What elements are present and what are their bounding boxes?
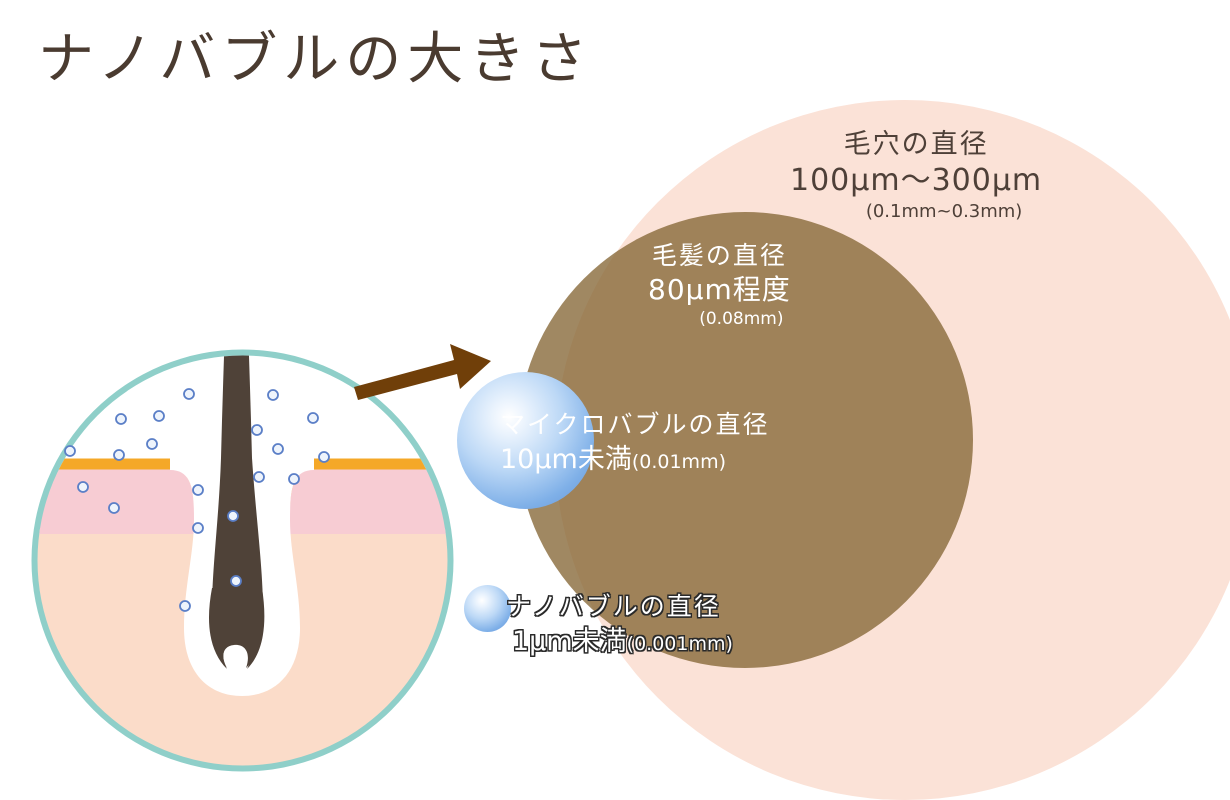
microbubble-label-name: マイクロバブルの直径 — [500, 408, 770, 442]
pore-label-value-mm: (0.1mm~0.3mm) — [790, 200, 1042, 224]
hair-diameter-label: 毛髪の直径 80μm程度 (0.08mm) — [648, 240, 791, 330]
nanobubble-label-value: 1μm未満 — [512, 626, 627, 657]
nanobubble-label-value-line: 1μm未満(0.001mm) — [506, 624, 733, 662]
microbubble-label-value: 10μm未満 — [500, 444, 632, 475]
nanobubble-diameter-label: ナノバブルの直径 1μm未満(0.001mm) — [506, 590, 733, 662]
microbubble-label-value-mm: (0.01mm) — [632, 451, 726, 473]
nanobubble-sphere — [464, 585, 511, 632]
infographic-canvas: ナノバブルの大きさ 毛穴の直径 100μm〜300μm (0.1mm~0.3mm… — [0, 0, 1230, 800]
arrow-shape — [354, 344, 491, 400]
hair-label-name: 毛髪の直径 — [648, 240, 791, 272]
hair-label-value-mm: (0.08mm) — [648, 308, 791, 330]
hair-label-value: 80μm程度 — [648, 272, 791, 308]
pore-label-name: 毛穴の直径 — [790, 128, 1042, 162]
pointer-arrow — [350, 330, 510, 410]
microbubble-diameter-label: マイクロバブルの直径 10μm未満(0.01mm) — [500, 408, 770, 480]
pore-label-value: 100μm〜300μm — [790, 162, 1042, 200]
pore-diameter-label: 毛穴の直径 100μm〜300μm (0.1mm~0.3mm) — [790, 128, 1042, 224]
nanobubble-label-value-mm: (0.001mm) — [627, 633, 733, 655]
microbubble-label-value-line: 10μm未満(0.01mm) — [500, 442, 770, 480]
page-title: ナノバブルの大きさ — [38, 14, 593, 95]
nanobubble-label-name: ナノバブルの直径 — [506, 590, 733, 624]
